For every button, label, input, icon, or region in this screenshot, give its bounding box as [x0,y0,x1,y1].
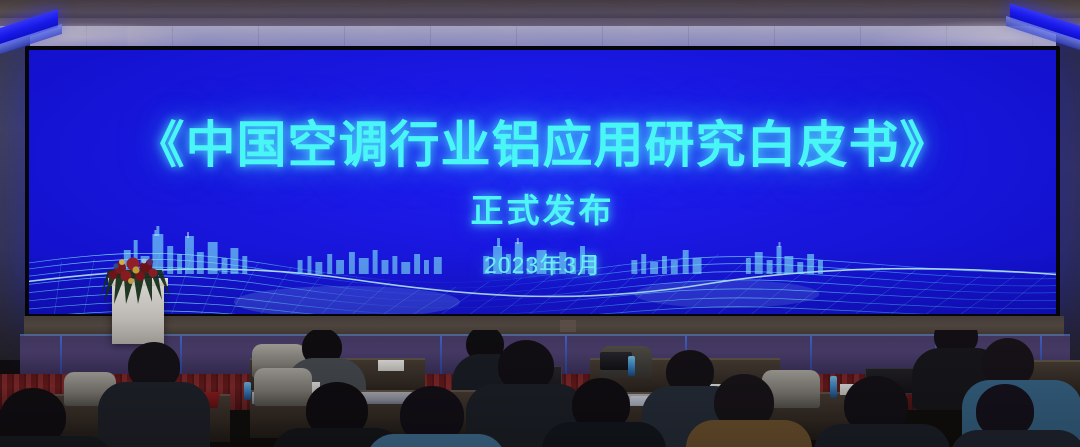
screen-text-block: 《中国空调行业铝应用研究白皮书》 正式发布 2023年3月 [29,50,1056,314]
led-screen: 《中国空调行业铝应用研究白皮书》 正式发布 2023年3月 [29,50,1056,314]
chair [254,368,312,406]
flower-arrangement [100,254,174,304]
release-subtitle: 正式发布 [471,184,615,232]
audience-area [0,330,1080,447]
water-bottle [244,382,251,400]
water-bottle [628,356,635,376]
whitepaper-title: 《中国空调行业铝应用研究白皮书》 [135,118,951,172]
name-card [378,360,404,371]
conference-hall-photo: 《中国空调行业铝应用研究白皮书》 正式发布 2023年3月 [0,0,1080,447]
release-date: 2023年3月 [484,246,601,280]
led-screen-bezel: 《中国空调行业铝应用研究白皮书》 正式发布 2023年3月 [25,46,1060,318]
water-bottle [830,376,837,398]
